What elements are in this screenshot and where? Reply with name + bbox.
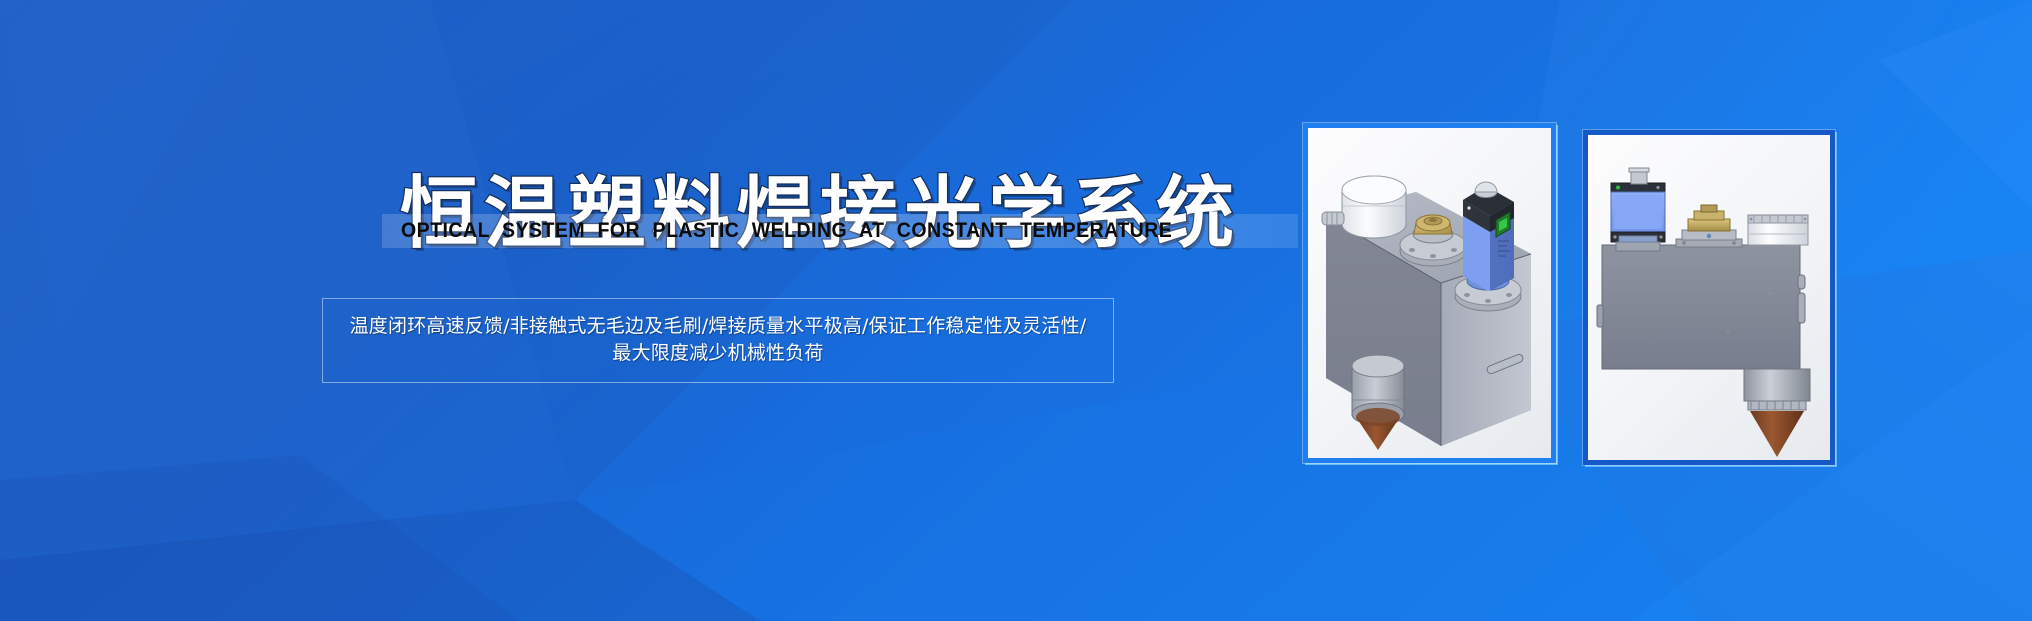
- subtitle-line-1: 温度闭环高速反馈/非接触式无毛边及毛刷/焊接质量水平极高/保证工作稳定性及灵活性…: [343, 313, 1093, 340]
- headline-group: 恒温塑料焊接光学系统 OPTICAL SYSTEM FOR PLASTIC WE…: [400, 170, 1280, 282]
- subtitle-box: 温度闭环高速反馈/非接触式无毛边及毛刷/焊接质量水平极高/保证工作稳定性及灵活性…: [322, 298, 1114, 383]
- hero-banner: 恒温塑料焊接光学系统 OPTICAL SYSTEM FOR PLASTIC WE…: [0, 0, 2032, 621]
- subtitle-line-2: 最大限度减少机械性负荷: [343, 340, 1093, 367]
- product-image-frame-isometric[interactable]: [1303, 123, 1556, 463]
- page-title-chinese: 恒温塑料焊接光学系统: [400, 162, 1280, 266]
- product-image-frame-front[interactable]: [1583, 130, 1835, 465]
- product-photo-front: [1588, 135, 1830, 460]
- product-photo-isometric: [1308, 128, 1551, 458]
- page-title-english: OPTICAL SYSTEM FOR PLASTIC WELDING AT CO…: [401, 216, 1219, 246]
- banner-text-block: 恒温塑料焊接光学系统 OPTICAL SYSTEM FOR PLASTIC WE…: [400, 170, 1280, 282]
